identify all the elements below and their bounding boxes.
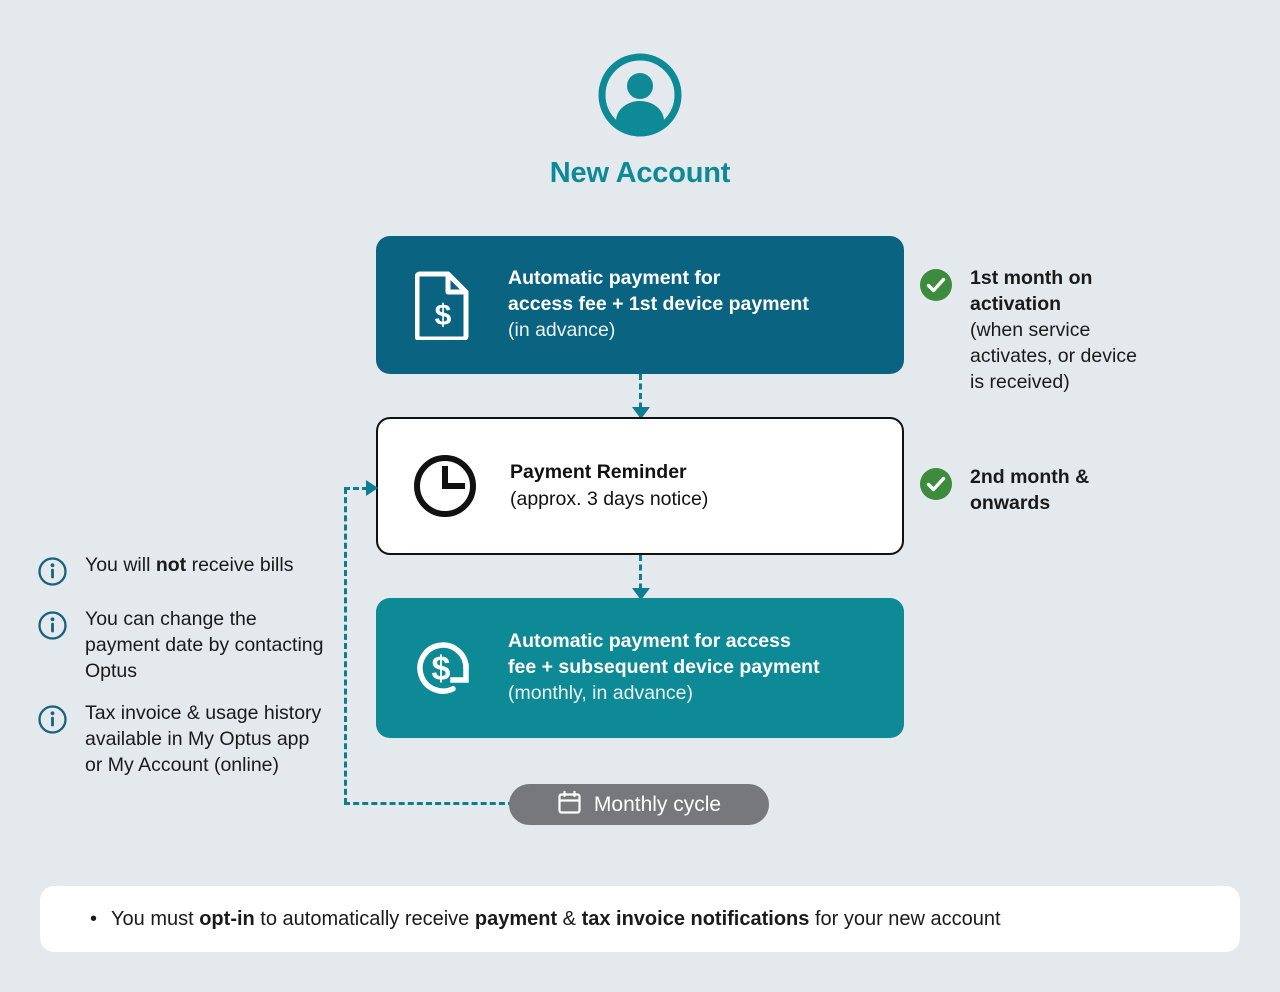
info-note-suffix: receive bills	[186, 554, 293, 576]
check-note-second-month: 2nd month & onwards	[920, 465, 1180, 517]
bullet-icon: •	[90, 909, 97, 929]
info-note-text: Tax invoice & usage history available in…	[85, 701, 328, 779]
info-note-text: You will not receive bills	[85, 553, 293, 591]
document-dollar-icon: $	[404, 270, 482, 340]
banner-part3: &	[557, 908, 581, 930]
person-avatar-icon	[0, 52, 1280, 143]
svg-text:$: $	[432, 650, 451, 688]
cycle-loop-bottom-line	[344, 802, 514, 805]
flow-step-title-line1: Automatic payment for access	[508, 629, 820, 655]
flow-step-text: Automatic payment for access fee + 1st d…	[508, 266, 809, 345]
bottom-banner-text: You must opt-in to automatically receive…	[111, 908, 1001, 931]
check-note-text: 1st month on activation (when service ac…	[970, 266, 1137, 396]
info-note-text: You can change the payment date by conta…	[85, 607, 328, 685]
cycle-loop-vertical-line	[344, 488, 347, 804]
check-note-bold-line1: 2nd month &	[970, 466, 1089, 488]
page-title: New Account	[0, 157, 1280, 190]
info-notes-list: You will not receive bills You can chang…	[38, 553, 328, 795]
check-note-normal-line2: activates, or device	[970, 345, 1137, 367]
flow-step-subtitle: (monthly, in advance)	[508, 681, 820, 707]
cycle-loop-top-line	[344, 487, 368, 490]
info-note-bold: not	[156, 554, 186, 576]
info-circle-icon	[38, 557, 67, 591]
check-note-bold-line2: activation	[970, 293, 1061, 315]
banner-part2: to automatically receive	[255, 908, 475, 930]
check-note-first-month: 1st month on activation (when service ac…	[920, 266, 1220, 396]
flow-step-title-line1: Automatic payment for	[508, 266, 809, 292]
banner-bold-opt-in: opt-in	[199, 908, 255, 930]
check-note-bold-line1: 1st month on	[970, 267, 1092, 289]
flow-step-payment-reminder: Payment Reminder (approx. 3 days notice)	[376, 417, 904, 555]
flow-step-title-line1: Payment Reminder	[510, 460, 708, 486]
recurring-dollar-icon: $	[404, 632, 482, 704]
flow-step-subtitle: (in advance)	[508, 318, 809, 344]
flow-step-subtitle: (approx. 3 days notice)	[510, 487, 708, 513]
svg-text:$: $	[435, 299, 452, 332]
info-circle-icon	[38, 611, 67, 685]
check-note-normal-line3: is received)	[970, 371, 1070, 393]
header: New Account	[0, 52, 1280, 190]
monthly-cycle-badge: Monthly cycle	[509, 784, 769, 825]
list-item: You can change the payment date by conta…	[38, 607, 328, 685]
banner-part4: for your new account	[809, 908, 1000, 930]
list-item: Tax invoice & usage history available in…	[38, 701, 328, 779]
flow-step-title-line2: access fee + 1st device payment	[508, 292, 809, 318]
connector-step2-to-step3	[639, 555, 642, 599]
info-circle-icon	[38, 705, 67, 779]
flow-step-text: Automatic payment for access fee + subse…	[508, 629, 820, 708]
banner-bold-payment: payment	[475, 908, 557, 930]
flow-step-auto-payment-subsequent: $ Automatic payment for access fee + sub…	[376, 598, 904, 738]
check-note-text: 2nd month & onwards	[970, 465, 1089, 517]
arrowhead-right-icon	[366, 480, 378, 496]
clock-icon	[406, 453, 484, 519]
check-note-bold-line2: onwards	[970, 492, 1050, 514]
flow-step-title-line2: fee + subsequent device payment	[508, 655, 820, 681]
check-circle-icon	[920, 468, 952, 517]
banner-part1: You must	[111, 908, 199, 930]
calendar-icon	[557, 790, 582, 820]
banner-bold-tax-invoice: tax invoice notifications	[582, 908, 810, 930]
check-note-normal-line1: (when service	[970, 319, 1090, 341]
flow-step-text: Payment Reminder (approx. 3 days notice)	[510, 460, 708, 513]
monthly-cycle-label: Monthly cycle	[594, 793, 721, 817]
info-note-prefix: You will	[85, 554, 156, 576]
check-circle-icon	[920, 269, 952, 396]
diagram-canvas: New Account $ Automatic payment for acce…	[0, 0, 1280, 992]
flow-step-auto-payment-first: $ Automatic payment for access fee + 1st…	[376, 236, 904, 374]
connector-step1-to-step2	[639, 374, 642, 418]
list-item: You will not receive bills	[38, 553, 328, 591]
bottom-banner: • You must opt-in to automatically recei…	[40, 886, 1240, 952]
